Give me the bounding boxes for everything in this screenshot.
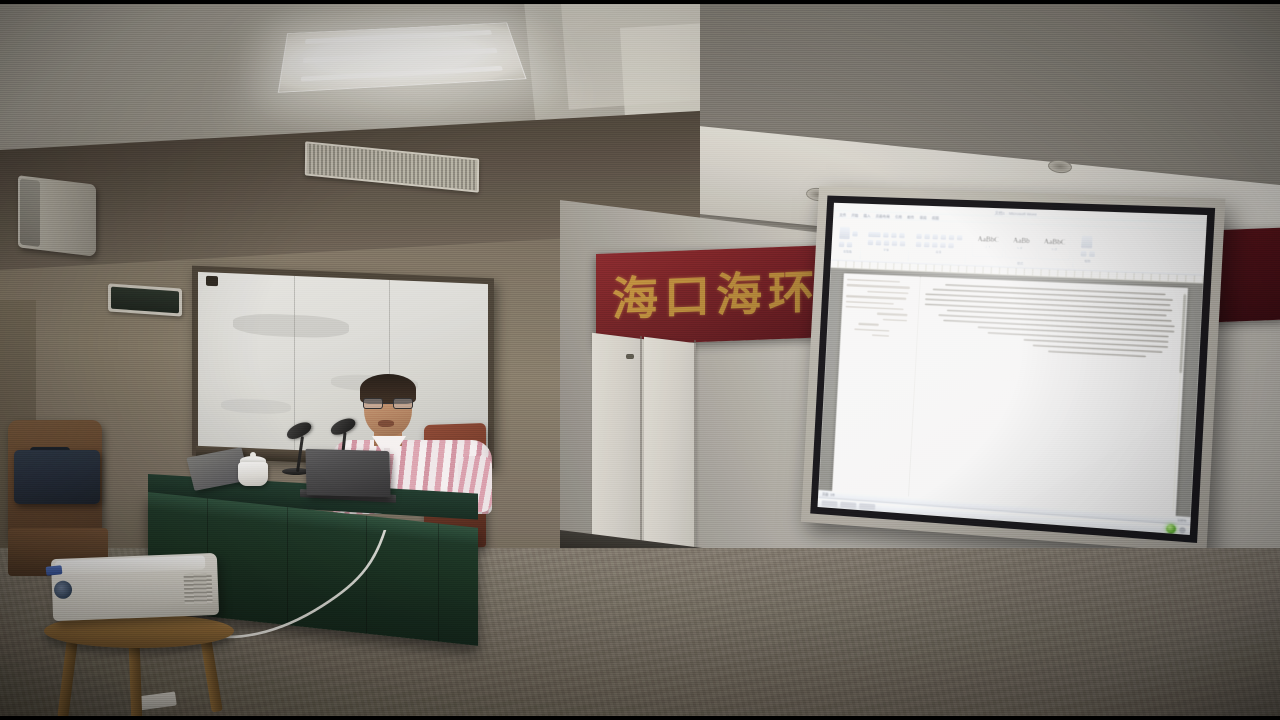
taskbar-item[interactable]	[821, 500, 837, 507]
style-chip[interactable]: AaBbC 正文	[972, 227, 1004, 257]
word-tab[interactable]: 开始	[851, 213, 858, 218]
style-preview: AaBbC	[1044, 238, 1066, 246]
ribbon-group-font[interactable]: 字体	[864, 222, 911, 260]
word-tab[interactable]: 邮件	[907, 215, 915, 220]
frame-edge-top	[0, 0, 1280, 4]
word-document-title: 文档1 - Microsoft Word	[994, 210, 1036, 218]
ribbon-group-label: 编辑	[1080, 259, 1095, 264]
word-page	[833, 273, 1188, 516]
taskbar-item[interactable]	[859, 503, 875, 510]
word-tab[interactable]: 插入	[863, 214, 870, 219]
wall-door-panel-right[interactable]	[644, 337, 696, 559]
style-chip[interactable]: AaBbC 标题	[1038, 230, 1071, 260]
ribbon-group-styles[interactable]: AaBbC 正文 AaBb 标题 1 AaBbC 标题	[969, 226, 1076, 267]
ribbon-group-editing[interactable]: 编辑	[1077, 230, 1100, 268]
document-column-right	[909, 277, 1188, 516]
style-name: 正文	[985, 244, 991, 248]
ribbon-group-paragraph[interactable]: 段落	[912, 224, 968, 263]
ribbon-group-label: 段落	[915, 249, 962, 255]
wall-speaker	[18, 175, 96, 257]
word-document-canvas[interactable]	[818, 268, 1203, 517]
status-page-indicator: 页面: 1/8	[822, 491, 835, 497]
door-seam	[640, 336, 642, 552]
projection-screen: 文档1 - Microsoft Word 文件 开始 插入 页面布局 引用 邮件…	[801, 186, 1226, 553]
door-knob-icon[interactable]	[626, 354, 634, 359]
style-preview: AaBbC	[977, 236, 999, 244]
whiteboard-clip	[206, 276, 218, 287]
word-tab[interactable]: 引用	[895, 215, 902, 220]
style-name: 标题 1	[1016, 245, 1025, 249]
presenter-mouth	[378, 420, 394, 427]
green-shield-icon[interactable]	[1166, 524, 1176, 534]
style-name: 标题	[1051, 247, 1058, 251]
photo-scene: 海口海环院环境 文档1 - Microsoft Word 文件 开始 插入 页面…	[0, 0, 1280, 720]
ribbon-group-label: 剪贴板	[838, 249, 857, 254]
ribbon-group-clipboard[interactable]: 剪贴板	[835, 221, 863, 258]
projection-screen-surface: 文档1 - Microsoft Word 文件 开始 插入 页面布局 引用 邮件…	[817, 203, 1207, 535]
laptop[interactable]	[305, 449, 390, 497]
wall-sign	[108, 283, 182, 316]
settings-icon[interactable]	[1179, 526, 1186, 533]
lidded-teacup	[238, 462, 268, 486]
projector-cable-plug	[46, 565, 63, 576]
word-tab[interactable]: 页面布局	[875, 214, 890, 220]
style-preview: AaBb	[1013, 237, 1030, 245]
projector-lens-icon	[54, 580, 73, 599]
laptop-bag	[14, 450, 100, 504]
document-column-left	[833, 273, 921, 496]
wall-door-panel-left[interactable]	[592, 333, 644, 551]
door-seam	[694, 340, 696, 558]
frame-edge-bottom	[0, 716, 1280, 720]
word-tab[interactable]: 审阅	[919, 216, 927, 221]
style-chip[interactable]: AaBb 标题 1	[1005, 228, 1038, 258]
projector-vent-icon	[184, 573, 213, 604]
word-application: 文档1 - Microsoft Word 文件 开始 插入 页面布局 引用 邮件…	[817, 203, 1207, 535]
ribbon-group-label: 字体	[867, 247, 905, 253]
taskbar-item[interactable]	[840, 501, 856, 508]
status-zoom-level[interactable]: 100%	[1177, 518, 1186, 523]
projector	[51, 553, 219, 621]
word-tab[interactable]: 文件	[839, 213, 846, 218]
glasses-icon	[363, 398, 413, 409]
style-gallery[interactable]: AaBbC 正文 AaBb 标题 1 AaBbC 标题	[972, 226, 1071, 260]
word-tab[interactable]: 视图	[932, 216, 940, 221]
teacup-knob	[250, 452, 256, 458]
